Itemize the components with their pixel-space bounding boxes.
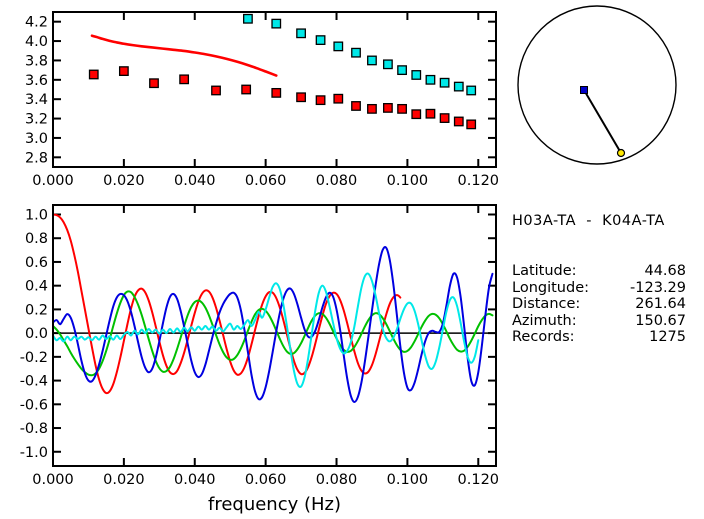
info-value: 261.64	[604, 296, 686, 313]
info-value: 44.68	[604, 263, 686, 280]
phase-velocity-points-marker	[455, 82, 464, 91]
y-tick-label: -1.0	[20, 445, 48, 461]
group-velocity-points-marker	[316, 96, 325, 105]
azimuth-line	[584, 90, 621, 153]
x-tick-label: 0.080	[316, 472, 358, 488]
group-velocity-points-marker	[297, 93, 306, 102]
x-tick-label: 0.120	[458, 472, 500, 488]
y-tick-label: 0.8	[25, 231, 48, 247]
group-velocity-points-marker	[334, 94, 343, 103]
x-tick-label: 0.080	[316, 173, 358, 189]
y-tick-label: 4.0	[25, 34, 48, 50]
phase-velocity-points-marker	[368, 56, 377, 65]
phase-velocity-points-marker	[334, 42, 343, 51]
group-velocity-points-marker	[398, 105, 407, 114]
x-tick-label: 0.060	[245, 173, 287, 189]
info-row: Records:1275	[512, 329, 704, 346]
phase-velocity-points-marker	[297, 29, 306, 37]
y-tick-label: 3.8	[25, 53, 48, 69]
x-tick-label: 0.040	[174, 472, 216, 488]
x-tick-label: 0.100	[387, 173, 429, 189]
info-label: Records:	[512, 329, 604, 346]
group-velocity-points-marker	[212, 86, 221, 95]
y-tick-label: 0.6	[25, 255, 48, 271]
group-velocity-points-marker	[272, 89, 281, 98]
phase-velocity-points-marker	[272, 19, 281, 28]
station-info-panel: H03A-TA - K04A-TA Latitude:44.68Longitud…	[512, 180, 704, 379]
series-group	[90, 15, 476, 129]
x-axis-label: frequency (Hz)	[208, 494, 341, 515]
x-tick-label: 0.000	[32, 173, 74, 189]
y-tick-label: 1.0	[25, 207, 48, 223]
x-tick-label: 0.120	[458, 173, 500, 189]
info-row: Longitude:-123.29	[512, 280, 704, 297]
x-tick-label: 0.000	[32, 472, 74, 488]
plot-figure: 0.0000.0200.0400.0600.0800.1000.1202.83.…	[0, 0, 704, 519]
y-tick-label: 0.2	[25, 302, 48, 318]
info-row: Latitude:44.68	[512, 263, 704, 280]
phase-velocity-points-marker	[244, 15, 253, 23]
info-row: Distance:261.64	[512, 296, 704, 313]
station-info-rows: Latitude:44.68Longitude:-123.29Distance:…	[512, 263, 704, 346]
y-tick-label: 4.2	[25, 15, 48, 31]
phase-velocity-points-marker	[426, 76, 435, 85]
info-value: 1275	[604, 329, 686, 346]
group-velocity-points-marker	[352, 102, 361, 111]
info-row: Azimuth:150.67	[512, 313, 704, 330]
x-tick-label: 0.060	[245, 472, 287, 488]
y-tick-label: -0.2	[20, 350, 48, 366]
phase-velocity-points-marker	[440, 78, 449, 87]
station-pair-circle	[518, 6, 676, 164]
group-velocity-points-marker	[467, 120, 476, 129]
group-velocity-points-marker	[426, 109, 435, 118]
station-marker-edge	[618, 150, 625, 157]
group-velocity-points-marker	[180, 75, 189, 84]
phase-velocity-points-marker	[384, 60, 393, 68]
info-label: Distance:	[512, 296, 604, 313]
dispersion-panel: 0.0000.0200.0400.0600.0800.1000.1202.83.…	[25, 12, 499, 189]
plot-frame	[53, 205, 496, 466]
y-tick-label: 0.0	[25, 326, 48, 342]
info-label: Azimuth:	[512, 313, 604, 330]
y-tick-label: 2.8	[25, 150, 48, 166]
cross-correlation-panel: 0.0000.0200.0400.0600.0800.1000.120-1.0-…	[20, 205, 499, 515]
phase-velocity-points-marker	[467, 86, 476, 95]
group-velocity-points-marker	[150, 79, 159, 88]
group-velocity-points-marker	[440, 114, 449, 123]
phase-velocity-points-marker	[316, 36, 325, 45]
y-tick-label: 3.4	[25, 92, 48, 108]
phase-velocity-points-marker	[412, 71, 421, 80]
y-tick-label: -0.8	[20, 421, 48, 437]
y-tick-label: 0.4	[25, 279, 48, 295]
group-velocity-points-marker	[242, 85, 251, 94]
group-velocity-points-marker	[368, 105, 377, 114]
y-tick-label: -0.6	[20, 397, 48, 413]
group-velocity-points-marker	[120, 67, 129, 76]
y-tick-label: -0.4	[20, 374, 48, 390]
group-velocity-points-marker	[384, 104, 393, 113]
x-tick-label: 0.100	[387, 472, 429, 488]
info-value: -123.29	[604, 280, 686, 297]
group-velocity-points-marker	[412, 110, 421, 119]
info-value: 150.67	[604, 313, 686, 330]
station-pair-title: H03A-TA - K04A-TA	[512, 213, 704, 230]
x-tick-label: 0.020	[103, 173, 145, 189]
group-velocity-points-marker	[455, 117, 464, 126]
y-tick-label: 3.2	[25, 112, 48, 128]
narrowband-red-trace	[53, 214, 400, 393]
group-velocity-points-marker	[90, 70, 99, 79]
info-label: Longitude:	[512, 280, 604, 297]
y-tick-label: 3.6	[25, 73, 48, 89]
x-tick-label: 0.020	[103, 472, 145, 488]
y-tick-label: 3.0	[25, 131, 48, 147]
x-tick-label: 0.040	[174, 173, 216, 189]
info-label: Latitude:	[512, 263, 604, 280]
phase-velocity-points-marker	[352, 48, 361, 57]
station-marker-center	[581, 87, 588, 94]
station-circle	[518, 6, 676, 164]
series-group	[53, 214, 492, 401]
phase-velocity-points-marker	[398, 66, 407, 75]
